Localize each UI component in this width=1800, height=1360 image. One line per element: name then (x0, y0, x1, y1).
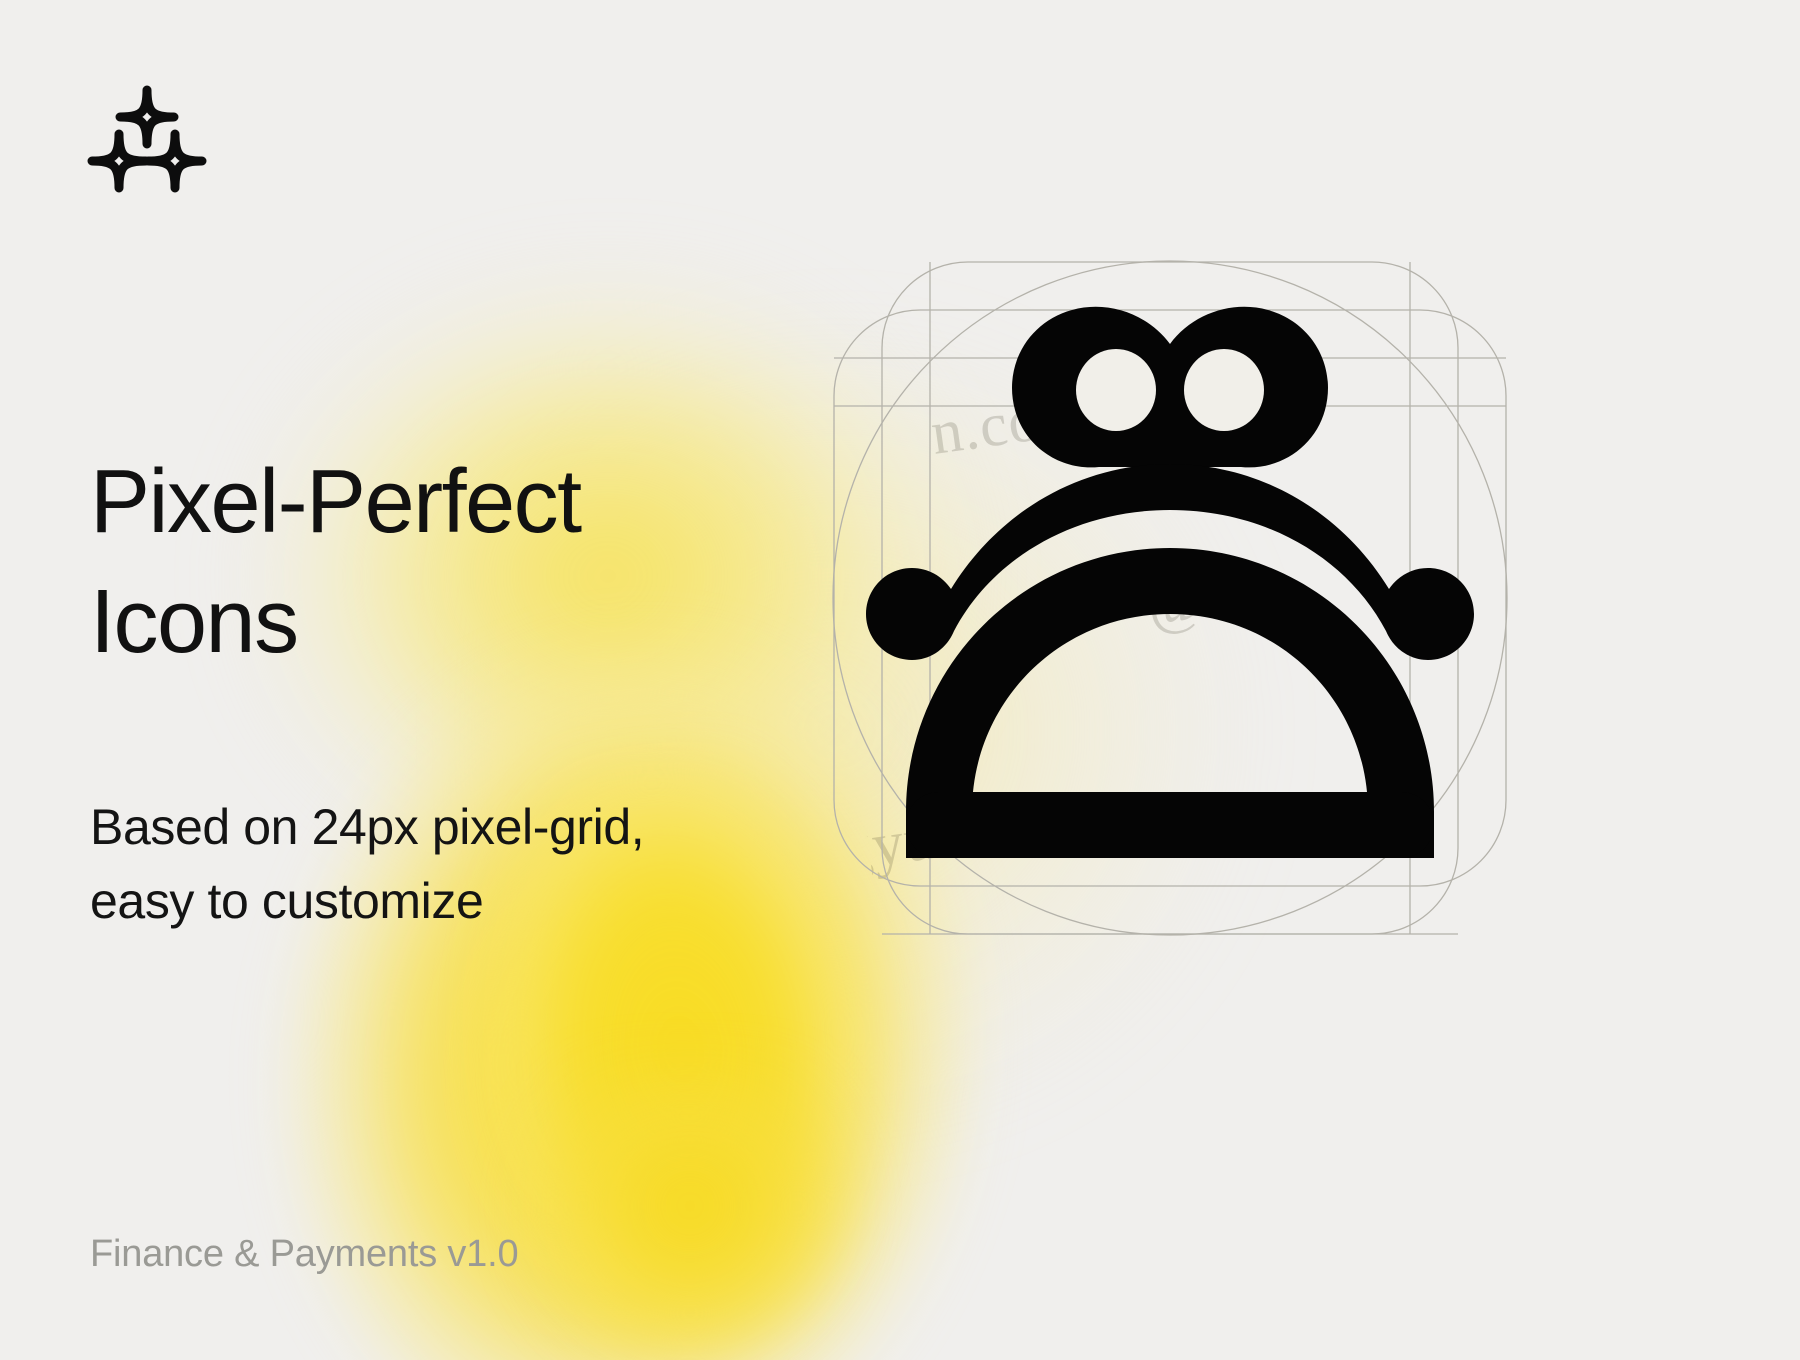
gradient-tail (480, 1080, 900, 1360)
subtitle-line-2: easy to customize (90, 864, 830, 938)
poster-canvas: n.com @n ngyun.com igo ne'gongyun.co Pix… (0, 0, 1800, 1360)
page-title: Pixel-Perfect Icons (90, 442, 850, 682)
money-bag-glyph (866, 307, 1474, 858)
page-subtitle: Based on 24px pixel-grid, easy to custom… (90, 790, 830, 938)
eyelet-right (1184, 349, 1264, 431)
eyelet-left (1076, 349, 1156, 431)
sparkles-icon (86, 84, 208, 196)
headline-line-2: Icons (90, 562, 850, 682)
subtitle-line-1: Based on 24px pixel-grid, (90, 790, 830, 864)
footer-version-label: Finance & Payments v1.0 (90, 1232, 518, 1276)
headline-line-1: Pixel-Perfect (90, 442, 850, 562)
money-bag-icon (820, 248, 1520, 948)
